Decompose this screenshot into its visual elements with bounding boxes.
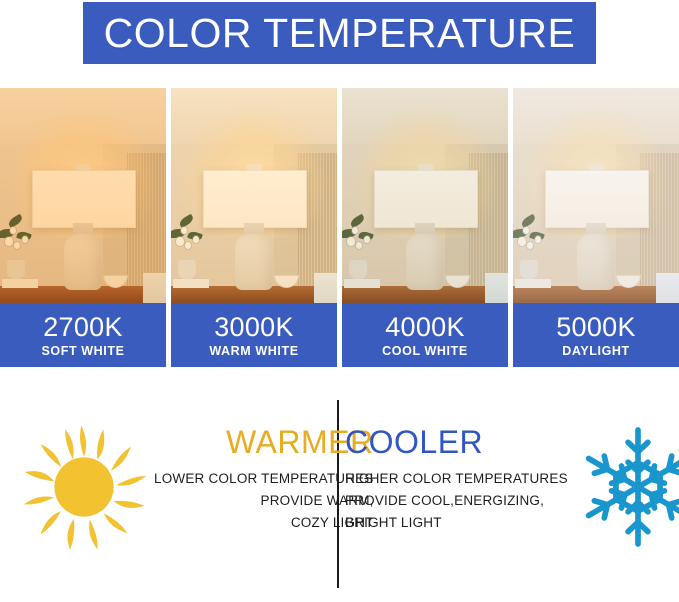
cooler-section: COOLER HIGHER COLOR TEMPERATURES PROVIDE…	[341, 392, 679, 592]
kelvin-value: 2700K	[43, 313, 123, 341]
temperature-label-3000k: 3000K WARM WHITE	[171, 303, 337, 367]
page-title: COLOR TEMPERATURE	[104, 13, 576, 54]
temperature-panel-5000k[interactable]: 5000K DAYLIGHT	[513, 88, 679, 367]
kelvin-name: SOFT WHITE	[41, 345, 124, 359]
temperature-panel-3000k[interactable]: 3000K WARM WHITE	[171, 88, 337, 367]
temperature-label-2700k: 2700K SOFT WHITE	[0, 303, 166, 367]
color-temperature-infographic: COLOR TEMPERATURE	[0, 0, 679, 602]
lamp-room-photo-2700k-image	[0, 88, 166, 303]
kelvin-name: COOL WHITE	[382, 345, 468, 359]
kelvin-name: WARM WHITE	[209, 345, 298, 359]
cooler-desc-line-1: HIGHER COLOR TEMPERATURES	[345, 468, 568, 490]
kelvin-value: 4000K	[385, 313, 465, 341]
cooler-desc-line-2: PROVIDE COOL,ENERGIZING,	[345, 490, 568, 512]
cooler-description: HIGHER COLOR TEMPERATURES PROVIDE COOL,E…	[345, 468, 568, 535]
sun-icon	[14, 412, 154, 562]
lamp-room-photo-3000k-image	[171, 88, 337, 303]
temperature-panel-4000k[interactable]: 4000K COOL WHITE	[342, 88, 508, 367]
cooler-text-block: COOLER HIGHER COLOR TEMPERATURES PROVIDE…	[341, 426, 568, 534]
kelvin-value: 3000K	[214, 313, 294, 341]
cooler-desc-line-3: BRIGHT LIGHT	[345, 512, 568, 534]
snowflake-icon	[568, 412, 679, 562]
warmer-section: WARMER LOWER COLOR TEMPERATURES PROVIDE …	[0, 392, 337, 592]
temperature-panel-row: 2700K SOFT WHITE	[0, 88, 679, 367]
lamp-room-photo-5000k-image	[513, 88, 679, 303]
lamp-room-photo-4000k-image	[342, 88, 508, 303]
cooler-headline: COOLER	[345, 426, 568, 460]
temperature-label-5000k: 5000K DAYLIGHT	[513, 303, 679, 367]
kelvin-name: DAYLIGHT	[562, 345, 630, 359]
kelvin-value: 5000K	[556, 313, 636, 341]
temperature-panel-2700k[interactable]: 2700K SOFT WHITE	[0, 88, 166, 367]
page-title-banner: COLOR TEMPERATURE	[83, 2, 596, 64]
warm-cool-comparison: WARMER LOWER COLOR TEMPERATURES PROVIDE …	[0, 392, 679, 602]
temperature-label-4000k: 4000K COOL WHITE	[342, 303, 508, 367]
